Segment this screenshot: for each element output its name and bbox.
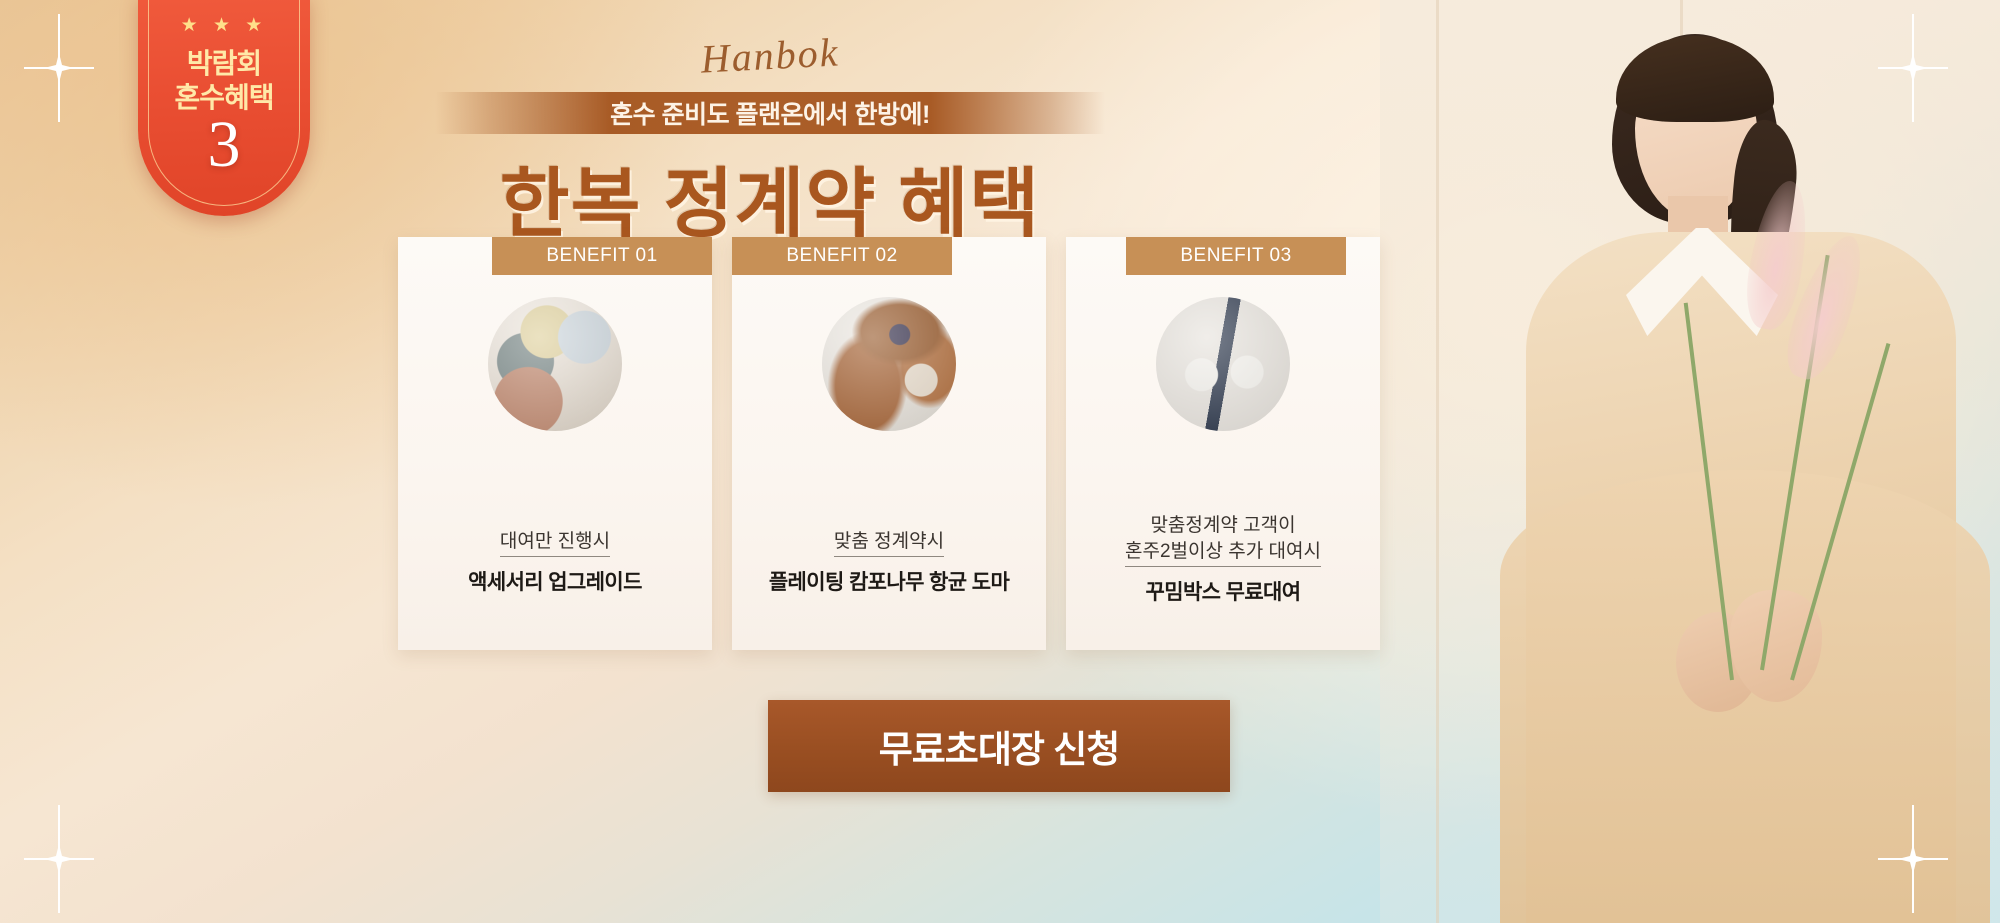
subtitle-text: 혼수 준비도 플랜온에서 한방에! <box>610 95 930 131</box>
benefit-tab-1: BENEFIT 01 <box>492 237 712 275</box>
free-invitation-apply-button[interactable]: 무료초대장 신청 <box>768 700 1230 792</box>
model-hair-front <box>1616 36 1774 122</box>
benefit-text-1: 대여만 진행시 액세서리 업그레이드 <box>412 529 698 596</box>
cutting-boards-photo <box>822 297 956 431</box>
benefit-tab-label-2: BENEFIT 02 <box>786 245 897 267</box>
benefit-text-2: 맞춤 정계약시 플레이팅 캄포나무 항균 도마 <box>746 529 1032 596</box>
expo-benefit-ribbon-badge: ★ ★ ★ 박람회 혼수혜택 3 <box>138 0 310 216</box>
benefit-tab-3: BENEFIT 03 <box>1126 237 1346 275</box>
benefit-subtext-2: 맞춤 정계약시 <box>834 529 944 557</box>
benefit-subtext-1: 대여만 진행시 <box>500 529 610 557</box>
benefit-card-list: BENEFIT 01 대여만 진행시 액세서리 업그레이드 BENEFIT 02… <box>398 237 1380 650</box>
benefit-card-2[interactable]: BENEFIT 02 맞춤 정계약시 플레이팅 캄포나무 항균 도마 <box>732 237 1046 650</box>
badge-number: 3 <box>138 112 310 178</box>
hanbok-model-photo <box>1380 0 2000 923</box>
benefit-card-1[interactable]: BENEFIT 01 대여만 진행시 액세서리 업그레이드 <box>398 237 712 650</box>
benefit-subtext-3: 맞춤정계약 고객이혼주2벌이상 추가 대여시 <box>1125 513 1321 567</box>
benefit-tab-label-1: BENEFIT 01 <box>546 245 657 267</box>
benefit-tab-2: BENEFIT 02 <box>732 237 952 275</box>
benefit-text-3: 맞춤정계약 고객이혼주2벌이상 추가 대여시 꾸밈박스 무료대여 <box>1080 513 1366 606</box>
benefit-card-3[interactable]: BENEFIT 03 맞춤정계약 고객이혼주2벌이상 추가 대여시 꾸밈박스 무… <box>1066 237 1380 650</box>
promo-banner: ★ ★ ★ 박람회 혼수혜택 3 Hanbok 혼수 준비도 플랜온에서 한방에… <box>0 0 2000 923</box>
sparkle-bottom-left-icon <box>24 805 94 913</box>
subtitle-band: 혼수 준비도 플랜온에서 한방에! <box>435 92 1105 134</box>
benefit-tab-label-3: BENEFIT 03 <box>1180 245 1291 267</box>
jewellery-box-photo <box>1156 297 1290 431</box>
model-figure <box>1430 0 1990 923</box>
badge-stars-icon: ★ ★ ★ <box>138 16 310 35</box>
cta-label: 무료초대장 신청 <box>879 719 1120 773</box>
benefit-maintext-3: 꾸밈박스 무료대여 <box>1080 576 1366 606</box>
benefit-maintext-2: 플레이팅 캄포나무 항균 도마 <box>746 566 1032 596</box>
benefit-maintext-1: 액세서리 업그레이드 <box>412 566 698 596</box>
clutch-bags-photo <box>488 297 622 431</box>
